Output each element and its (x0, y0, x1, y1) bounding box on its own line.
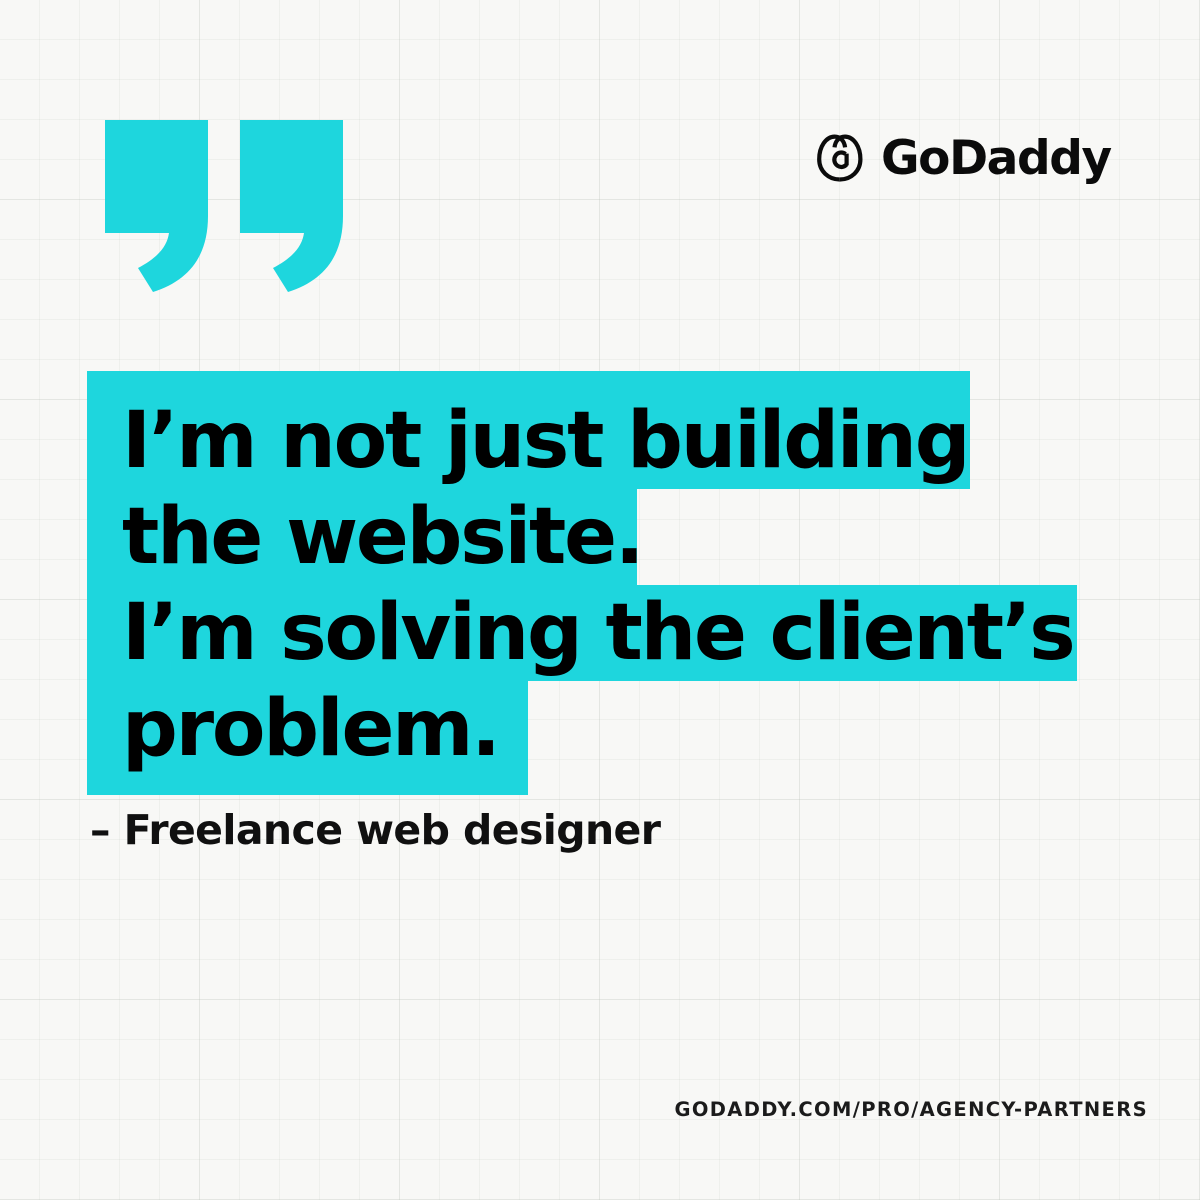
footer-url: GODADDY.COM/PRO/AGENCY-PARTNERS (674, 1098, 1148, 1121)
quote-mark-icon (105, 120, 343, 292)
quote-line: problem. (87, 681, 528, 795)
godaddy-guy-heart-icon (815, 132, 865, 184)
godaddy-logo: GoDaddy (815, 132, 1111, 184)
social-quote-card: GoDaddy I’m not just building the websit… (0, 0, 1200, 1200)
quote-line: the website. (87, 489, 637, 585)
quote-line: I’m solving the client’s (87, 585, 1077, 681)
quote-line: I’m not just building (87, 371, 970, 489)
quote-text: I’m not just building the website. I’m s… (87, 371, 1087, 795)
godaddy-wordmark: GoDaddy (881, 135, 1111, 182)
quote-attribution: – Freelance web designer (90, 806, 660, 854)
